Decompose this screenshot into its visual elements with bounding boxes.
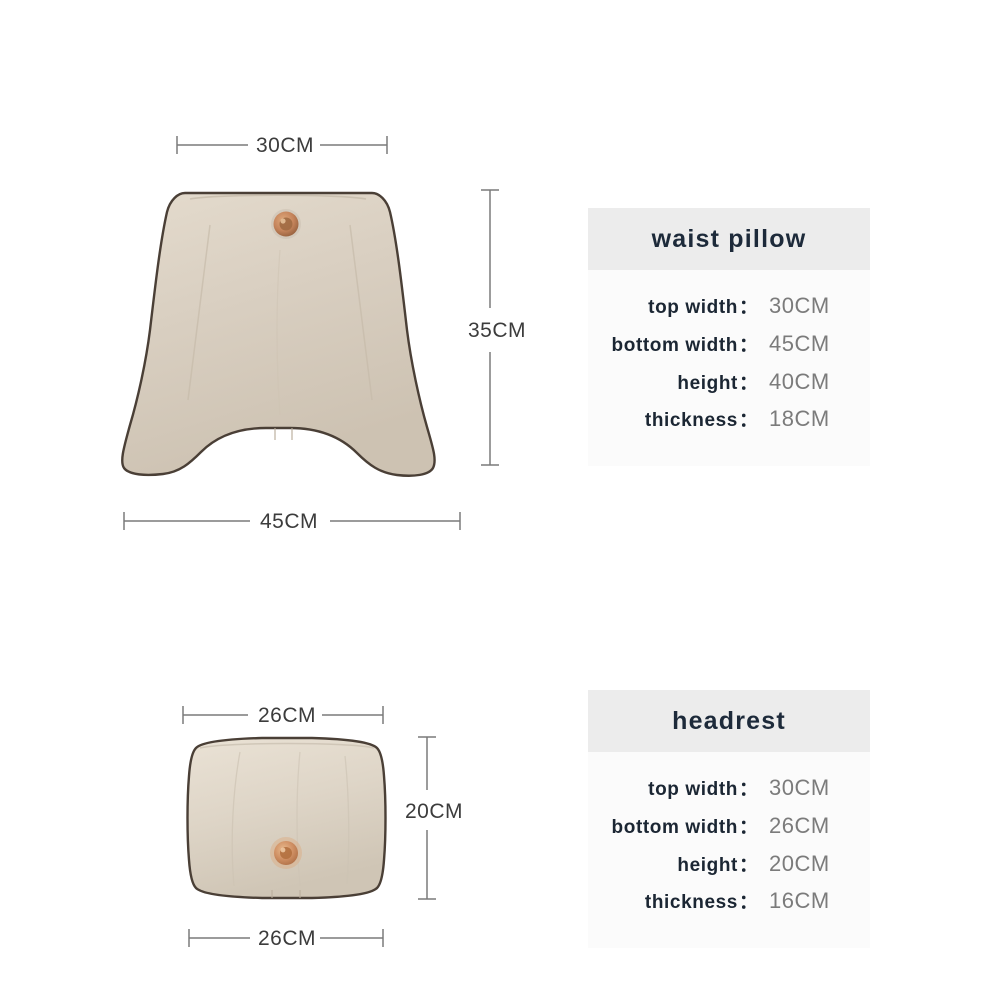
spec-key: top width: [648, 778, 738, 802]
spec-row: thickness ： 16CM: [606, 887, 846, 915]
headrest-bottom-width-label: 26CM: [258, 927, 316, 951]
waist-pillow-height-label: 35CM: [468, 319, 526, 343]
headrest-height-label: 20CM: [405, 800, 463, 824]
spec-value: 30CM: [760, 774, 846, 802]
waist-pillow-button-highlight: [280, 218, 285, 223]
waist-pillow-spec-panel: waist pillow top width ： 30CM bottom wid…: [588, 208, 870, 466]
headrest-spec-list: top width ： 30CM bottom width ： 26CM hei…: [588, 752, 870, 933]
waist-pillow-spec-title: waist pillow: [652, 225, 807, 254]
spec-value: 45CM: [760, 330, 846, 358]
spec-value: 18CM: [760, 405, 846, 433]
spec-value: 30CM: [760, 292, 846, 320]
waist-pillow-spec-header: waist pillow: [588, 208, 870, 270]
headrest-button-highlight: [281, 848, 286, 853]
spec-key: height: [677, 372, 738, 396]
spec-separator: ：: [738, 816, 760, 840]
product-specification-page: 30CM 45CM 35CM 26CM 26CM 20CM waist pill…: [0, 0, 1000, 1000]
waist-pillow-illustration: [122, 193, 434, 476]
spec-row: top width ： 30CM: [606, 774, 846, 802]
headrest-spec-title: headrest: [672, 707, 786, 736]
spec-separator: ：: [738, 891, 760, 915]
spec-key: top width: [648, 296, 738, 320]
spec-key: thickness: [645, 409, 738, 433]
spec-value: 16CM: [760, 887, 846, 915]
spec-row: height ： 20CM: [606, 850, 846, 878]
spec-separator: ：: [738, 778, 760, 802]
spec-row: bottom width ： 45CM: [606, 330, 846, 358]
spec-separator: ：: [738, 854, 760, 878]
headrest-body: [188, 738, 386, 898]
spec-separator: ：: [738, 296, 760, 320]
spec-key: height: [677, 854, 738, 878]
headrest-spec-panel: headrest top width ： 30CM bottom width ：…: [588, 690, 870, 948]
spec-row: thickness ： 18CM: [606, 405, 846, 433]
spec-value: 26CM: [760, 812, 846, 840]
headrest-illustration: [188, 738, 386, 898]
waist-pillow-bottom-width-label: 45CM: [260, 510, 318, 534]
headrest-top-width-label: 26CM: [258, 704, 316, 728]
spec-value: 40CM: [760, 368, 846, 396]
spec-separator: ：: [738, 409, 760, 433]
spec-key: bottom width: [612, 816, 738, 840]
waist-pillow-bottom-notch: [275, 428, 292, 440]
waist-pillow-spec-list: top width ： 30CM bottom width ： 45CM hei…: [588, 270, 870, 451]
spec-row: height ： 40CM: [606, 368, 846, 396]
spec-row: bottom width ： 26CM: [606, 812, 846, 840]
headrest-spec-header: headrest: [588, 690, 870, 752]
spec-key: thickness: [645, 891, 738, 915]
waist-pillow-top-width-label: 30CM: [256, 134, 314, 158]
spec-value: 20CM: [760, 850, 846, 878]
spec-separator: ：: [738, 334, 760, 358]
spec-separator: ：: [738, 372, 760, 396]
spec-key: bottom width: [612, 334, 738, 358]
spec-row: top width ： 30CM: [606, 292, 846, 320]
